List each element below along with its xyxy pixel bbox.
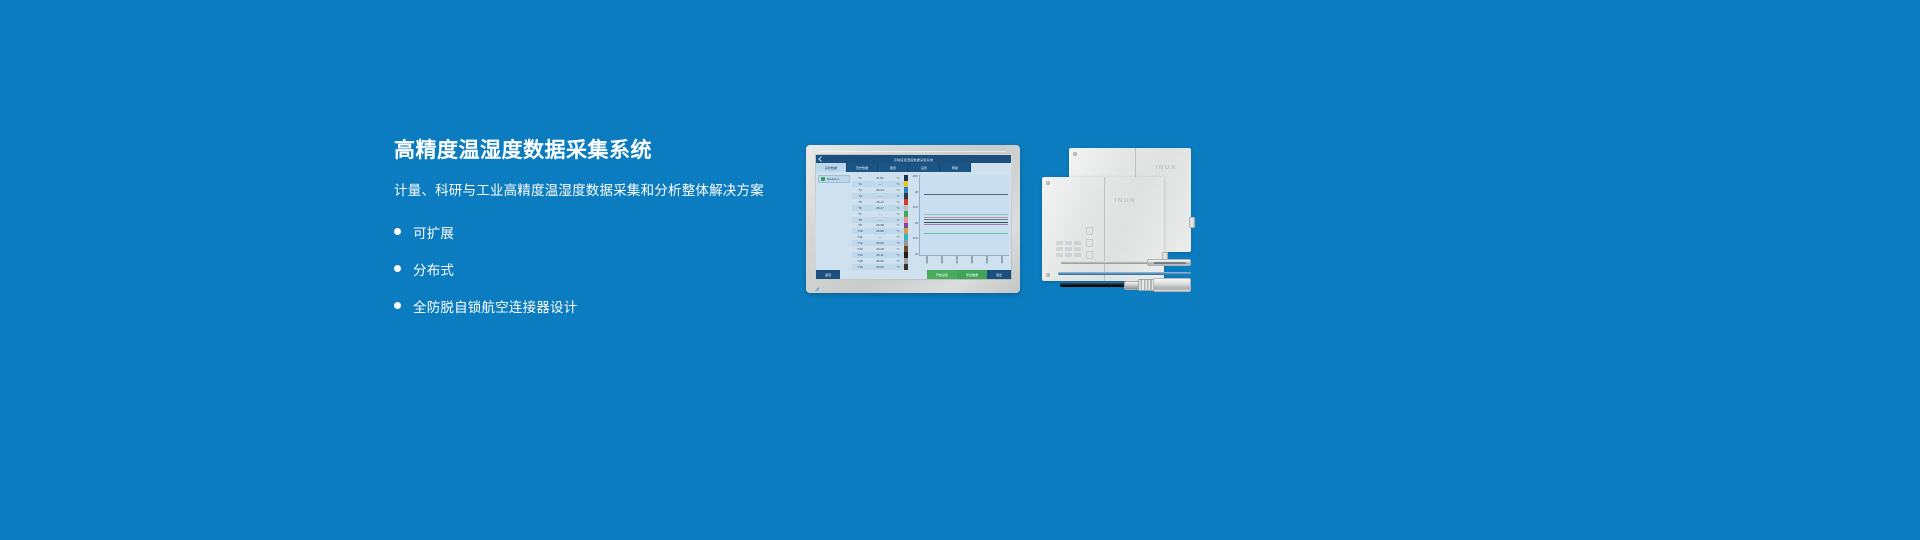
y-tick-label: 25 [915, 222, 918, 225]
unit-cell: °C [892, 223, 904, 227]
terminal-port [1065, 253, 1072, 257]
unit-cell: °C [892, 253, 904, 257]
x-tick-label: 16:10:20 [985, 256, 988, 269]
bullet-icon [394, 302, 401, 309]
y-tick-label: 24.5 [913, 237, 918, 240]
device-tree-sidebar: Module-1 [816, 172, 852, 270]
value-cell: 26.88 [868, 229, 892, 233]
value-cell: 26.11 [868, 253, 892, 257]
chart-x-axis: 16:04:2016:05:5016:07:2016:08:5016:10:20… [919, 256, 1009, 269]
list-item: 可扩展 [394, 222, 794, 242]
value-cell: 26.98 [868, 223, 892, 227]
unit-cell: °C [892, 206, 904, 210]
value-cell: 25.17 [868, 206, 892, 210]
knurled-nut [1138, 279, 1154, 291]
trend-chart[interactable]: 26.52625.52524.524 16:04:2016:05:5016:07… [908, 172, 1011, 270]
panel-pc-bezel: 高精度温湿度数据采集系统 实时数据 历史数据 报表 设置 帮助 Module-1… [815, 154, 1012, 280]
feature-label: 分布式 [413, 259, 454, 279]
unit-cell: °C [892, 259, 904, 263]
list-item: 分布式 [394, 259, 794, 279]
terminal-port [1056, 241, 1063, 245]
chart-series-line [924, 233, 1009, 234]
value-cell: 21.81 [868, 176, 892, 180]
connector-port-column [1086, 227, 1093, 259]
unit-cell: °C [892, 188, 904, 192]
channel-cell: T2 [852, 182, 868, 186]
y-tick-label: 26 [915, 191, 918, 194]
panel-pc-screen: 高精度温湿度数据采集系统 实时数据 历史数据 报表 设置 帮助 Module-1… [816, 155, 1011, 279]
aviation-connector-cable [1060, 278, 1193, 293]
chart-series-line [924, 217, 1009, 218]
device-online-icon [821, 177, 825, 181]
terminal-port [1074, 241, 1081, 245]
chart-series-line [924, 219, 1009, 220]
feature-list: 可扩展 分布式 全防脱自锁航空连接器设计 [394, 222, 794, 316]
exit-button[interactable]: 退出 [987, 270, 1011, 279]
value-cell: --- [868, 182, 892, 186]
brand-logo-back: INON [1156, 165, 1177, 171]
terminal-port [1074, 247, 1081, 251]
unit-cell: °C [892, 218, 904, 222]
probe-shaft [1058, 272, 1191, 275]
bullet-icon [394, 228, 401, 235]
chart-series-line [924, 194, 1009, 195]
unit-cell: °C [892, 176, 904, 180]
channel-cell: T13 [852, 247, 868, 251]
page-title: 高精度温湿度数据采集系统 [394, 138, 794, 164]
chart-series-line [924, 224, 1009, 225]
start-acquisition-button[interactable]: 开始采集 [927, 270, 957, 279]
channel-cell: T5 [852, 200, 868, 204]
x-tick-label: 16:07:20 [955, 256, 958, 269]
x-tick-label: 16:05:50 [940, 256, 943, 269]
probe-shaft [1061, 261, 1149, 264]
unit-cell: °C [892, 229, 904, 233]
screw-icon [1046, 181, 1050, 185]
unit-cell: °C [892, 212, 904, 216]
app-tabbar: 实时数据 历史数据 报表 设置 帮助 [816, 163, 1011, 172]
brand-logo-front: INON [1115, 198, 1136, 204]
channel-cell: T12 [852, 241, 868, 245]
chart-y-axis: 26.52625.52524.524 [908, 175, 919, 256]
unit-cell: °C [892, 241, 904, 245]
panel-pc-indicator: ◢ [815, 287, 820, 291]
unit-cell: °C [892, 200, 904, 204]
tab-realtime-data[interactable]: 实时数据 [816, 163, 847, 172]
back-button[interactable]: 返回 [816, 270, 840, 279]
x-tick-label: 16:11:50 [1000, 256, 1003, 269]
value-cell: --- [868, 218, 892, 222]
terminal-port [1074, 253, 1081, 257]
x-tick-label: 16:08:50 [970, 256, 973, 269]
enclosure-connector [1189, 217, 1195, 228]
terminal-block-group [1056, 241, 1081, 257]
screw-icon [1046, 273, 1050, 277]
bottom-bar-spacer [840, 270, 927, 279]
y-tick-label: 24 [915, 253, 918, 256]
terminal-port [1065, 247, 1072, 251]
probe-tip [1147, 259, 1191, 266]
value-cell: 26.28 [868, 247, 892, 251]
unit-cell: °C [892, 265, 904, 269]
y-tick-label: 25.5 [913, 206, 918, 209]
unit-cell: °C [892, 247, 904, 251]
tab-report[interactable]: 报表 [878, 163, 909, 172]
value-cell: 26.34 [868, 188, 892, 192]
app-bottom-bar: 返回 开始采集 导出数据 退出 [816, 270, 1011, 279]
export-data-button[interactable]: 导出数据 [957, 270, 987, 279]
bullet-icon [394, 265, 401, 272]
terminal-port [1056, 247, 1063, 251]
channel-cell: T9 [852, 223, 868, 227]
value-cell: 25.94 [868, 265, 892, 269]
channel-table[interactable]: T121.81°CT2---°CT326.34°CT4---°CT526.12°… [852, 172, 904, 270]
value-cell: 25.94 [868, 241, 892, 245]
channel-cell: T8 [852, 218, 868, 222]
screw-icon [1073, 152, 1077, 156]
x-tick-label: 16:04:20 [925, 256, 928, 269]
cable [1060, 283, 1128, 287]
feature-label: 可扩展 [413, 222, 454, 242]
app-body: Module-1 T121.81°CT2---°CT326.34°CT4---°… [816, 172, 1011, 270]
connector-port [1086, 227, 1093, 235]
channel-cell: T15 [852, 259, 868, 263]
tab-settings[interactable]: 设置 [909, 163, 940, 172]
channel-cell: T16 [852, 265, 868, 269]
channel-cell: T14 [852, 253, 868, 257]
chart-plot-area [919, 175, 1009, 256]
list-item: 全防脱自锁航空连接器设计 [394, 296, 794, 316]
sidebar-item-module-1[interactable]: Module-1 [818, 175, 850, 183]
connector-port [1086, 239, 1093, 247]
tab-history-data[interactable]: 历史数据 [847, 163, 878, 172]
channel-cell: T4 [852, 194, 868, 198]
value-cell: 26.90 [868, 259, 892, 263]
channel-cell: T1 [852, 176, 868, 180]
unit-cell: °C [892, 182, 904, 186]
value-cell: 26.12 [868, 200, 892, 204]
channel-cell: T10 [852, 229, 868, 233]
chart-series-line [924, 214, 1009, 215]
app-titlebar: 高精度温湿度数据采集系统 [816, 155, 1011, 163]
channel-cell: T11 [852, 235, 868, 239]
humidity-probe-blue-shaft [1058, 272, 1193, 277]
unit-cell: °C [892, 194, 904, 198]
value-cell: --- [868, 235, 892, 239]
terminal-port [1065, 241, 1072, 245]
device-label: Module-1 [827, 177, 839, 181]
value-cell: --- [868, 212, 892, 216]
page-subtitle: 计量、科研与工业高精度温湿度数据采集和分析整体解决方案 [394, 182, 794, 200]
app-title: 高精度温湿度数据采集系统 [816, 157, 1011, 162]
terminal-port [1056, 253, 1063, 257]
hero-copy-block: 高精度温湿度数据采集系统 计量、科研与工业高精度温湿度数据采集和分析整体解决方案… [394, 138, 794, 333]
channel-cell: T7 [852, 212, 868, 216]
unit-cell: °C [892, 235, 904, 239]
chart-series-line [924, 222, 1009, 223]
tabbar-filler [971, 163, 1011, 172]
channel-cell: T6 [852, 206, 868, 210]
panel-pc-device: 高精度温湿度数据采集系统 实时数据 历史数据 报表 设置 帮助 Module-1… [806, 145, 1020, 293]
connector-body [1153, 278, 1191, 292]
value-cell: --- [868, 194, 892, 198]
temperature-probe-stainless [1061, 258, 1193, 267]
tab-help[interactable]: 帮助 [940, 163, 971, 172]
feature-label: 全防脱自锁航空连接器设计 [413, 296, 577, 316]
y-tick-label: 26.5 [913, 175, 918, 178]
channel-cell: T3 [852, 188, 868, 192]
